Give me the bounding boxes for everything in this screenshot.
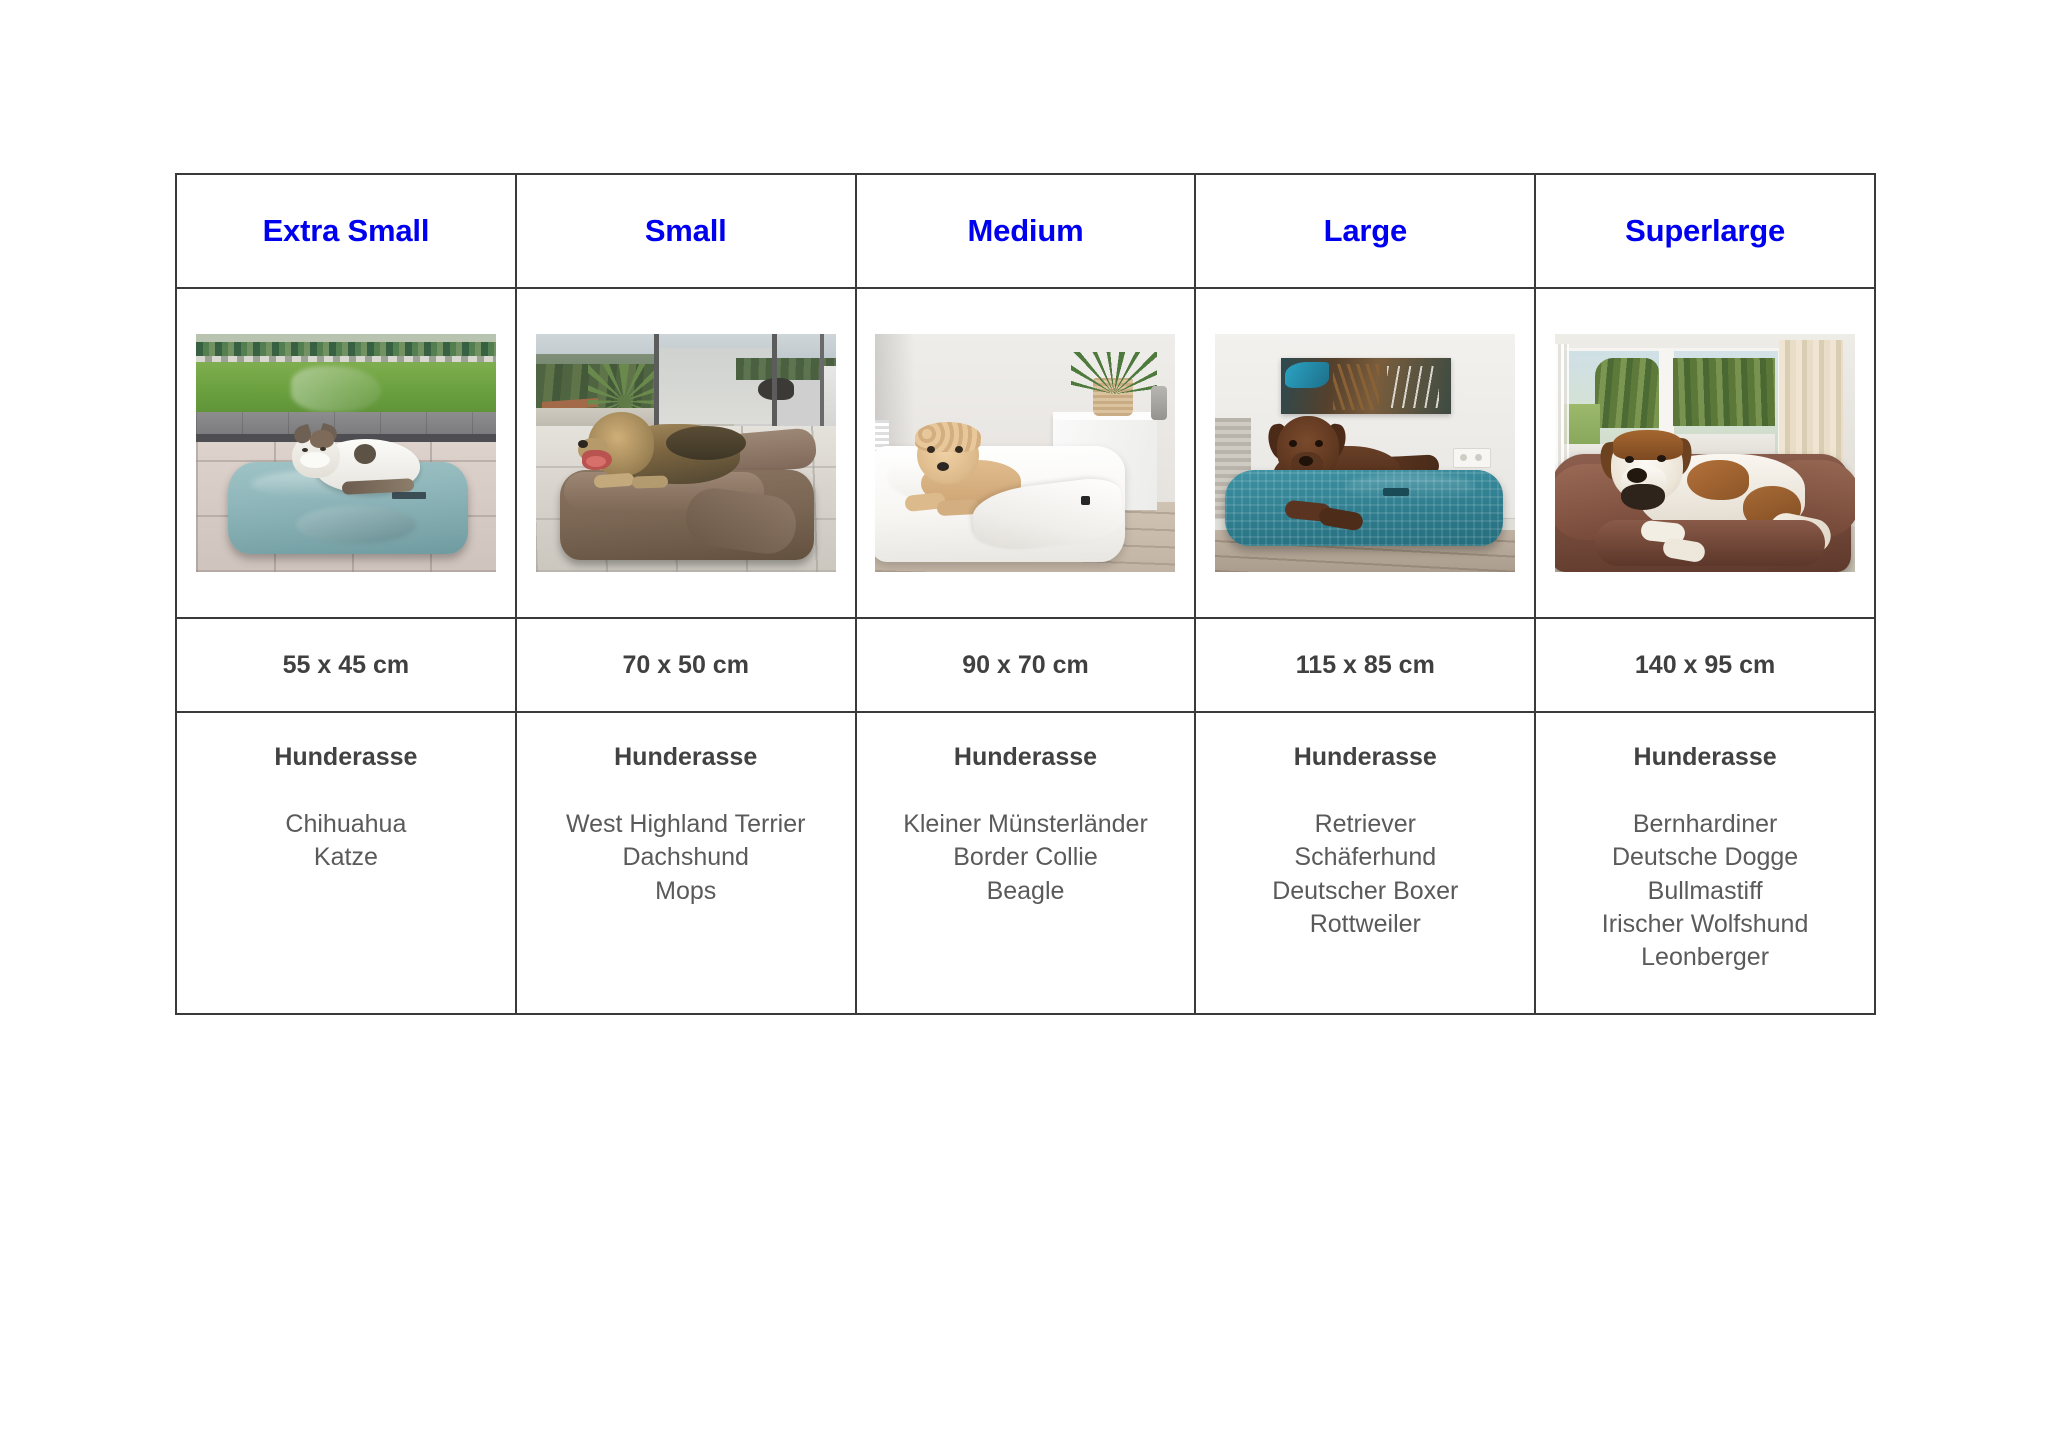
category-title-superlarge: Superlarge (1536, 214, 1874, 248)
category-header-cell-3: Large (1195, 174, 1535, 288)
breed-item: Bernhardiner (1536, 808, 1874, 841)
breed-list-large: RetrieverSchäferhundDeutscher BoxerRottw… (1196, 808, 1534, 941)
breed-item: Katze (177, 841, 515, 874)
dimension-cell-2: 90 x 70 cm (856, 618, 1196, 712)
breed-block-medium: Hunderasse Kleiner MünsterländerBorder C… (857, 713, 1195, 908)
breed-row: Hunderasse ChihuahuaKatze Hunderasse Wes… (176, 712, 1875, 1014)
category-title-extra-small: Extra Small (177, 214, 515, 248)
breed-heading-superlarge: Hunderasse (1536, 743, 1874, 772)
breed-item: Deutscher Boxer (1196, 875, 1534, 908)
product-photo-extra-small (196, 334, 496, 572)
breed-cell-4: Hunderasse BernhardinerDeutsche DoggeBul… (1535, 712, 1875, 1014)
product-photo-small (536, 334, 836, 572)
category-title-large: Large (1196, 214, 1534, 248)
photo-cell-3 (1195, 288, 1535, 618)
document-page: Extra Small Small Medium Large Superlarg… (0, 0, 2048, 1448)
photo-wrap-large (1196, 289, 1534, 617)
photo-wrap-small (517, 289, 855, 617)
breed-block-small: Hunderasse West Highland TerrierDachshun… (517, 713, 855, 908)
dimension-superlarge: 140 x 95 cm (1536, 651, 1874, 680)
breed-cell-0: Hunderasse ChihuahuaKatze (176, 712, 516, 1014)
dimension-cell-0: 55 x 45 cm (176, 618, 516, 712)
breed-item: Border Collie (857, 841, 1195, 874)
dimension-cell-1: 70 x 50 cm (516, 618, 856, 712)
dimension-row: 55 x 45 cm 70 x 50 cm 90 x 70 cm 115 x 8… (176, 618, 1875, 712)
photo-wrap-medium (857, 289, 1195, 617)
product-photo-superlarge (1555, 334, 1855, 572)
category-title-medium: Medium (857, 214, 1195, 248)
category-header-row: Extra Small Small Medium Large Superlarg… (176, 174, 1875, 288)
breed-item: Rottweiler (1196, 908, 1534, 941)
dimension-medium: 90 x 70 cm (857, 651, 1195, 680)
breed-list-medium: Kleiner MünsterländerBorder CollieBeagle (857, 808, 1195, 908)
breed-item: Schäferhund (1196, 841, 1534, 874)
breed-heading-extra-small: Hunderasse (177, 743, 515, 772)
photo-wrap-extra-small (177, 289, 515, 617)
breed-heading-medium: Hunderasse (857, 743, 1195, 772)
photo-cell-2 (856, 288, 1196, 618)
breed-block-extra-small: Hunderasse ChihuahuaKatze (177, 713, 515, 875)
photo-cell-1 (516, 288, 856, 618)
product-photo-medium (875, 334, 1175, 572)
dimension-extra-small: 55 x 45 cm (177, 651, 515, 680)
breed-cell-2: Hunderasse Kleiner MünsterländerBorder C… (856, 712, 1196, 1014)
dimension-large: 115 x 85 cm (1196, 651, 1534, 680)
product-photo-row (176, 288, 1875, 618)
breed-item: Beagle (857, 875, 1195, 908)
dog-bed-size-table: Extra Small Small Medium Large Superlarg… (175, 173, 1876, 1015)
photo-cell-0 (176, 288, 516, 618)
breed-item: Leonberger (1536, 941, 1874, 974)
breed-item: Chihuahua (177, 808, 515, 841)
breed-item: West Highland Terrier (517, 808, 855, 841)
photo-wrap-superlarge (1536, 289, 1874, 617)
breed-item: Deutsche Dogge (1536, 841, 1874, 874)
breed-item: Bullmastiff (1536, 875, 1874, 908)
breed-list-superlarge: BernhardinerDeutsche DoggeBullmastiffIri… (1536, 808, 1874, 974)
breed-heading-large: Hunderasse (1196, 743, 1534, 772)
category-header-cell-4: Superlarge (1535, 174, 1875, 288)
breed-item: Irischer Wolfshund (1536, 908, 1874, 941)
category-header-cell-1: Small (516, 174, 856, 288)
breed-list-small: West Highland TerrierDachshundMops (517, 808, 855, 908)
breed-item: Kleiner Münsterländer (857, 808, 1195, 841)
breed-block-large: Hunderasse RetrieverSchäferhundDeutscher… (1196, 713, 1534, 941)
breed-cell-1: Hunderasse West Highland TerrierDachshun… (516, 712, 856, 1014)
breed-heading-small: Hunderasse (517, 743, 855, 772)
dimension-cell-3: 115 x 85 cm (1195, 618, 1535, 712)
breed-list-extra-small: ChihuahuaKatze (177, 808, 515, 875)
category-title-small: Small (517, 214, 855, 248)
breed-block-superlarge: Hunderasse BernhardinerDeutsche DoggeBul… (1536, 713, 1874, 974)
breed-item: Dachshund (517, 841, 855, 874)
photo-cell-4 (1535, 288, 1875, 618)
product-photo-large (1215, 334, 1515, 572)
category-header-cell-2: Medium (856, 174, 1196, 288)
category-header-cell-0: Extra Small (176, 174, 516, 288)
breed-item: Retriever (1196, 808, 1534, 841)
dimension-small: 70 x 50 cm (517, 651, 855, 680)
breed-item: Mops (517, 875, 855, 908)
dimension-cell-4: 140 x 95 cm (1535, 618, 1875, 712)
breed-cell-3: Hunderasse RetrieverSchäferhundDeutscher… (1195, 712, 1535, 1014)
